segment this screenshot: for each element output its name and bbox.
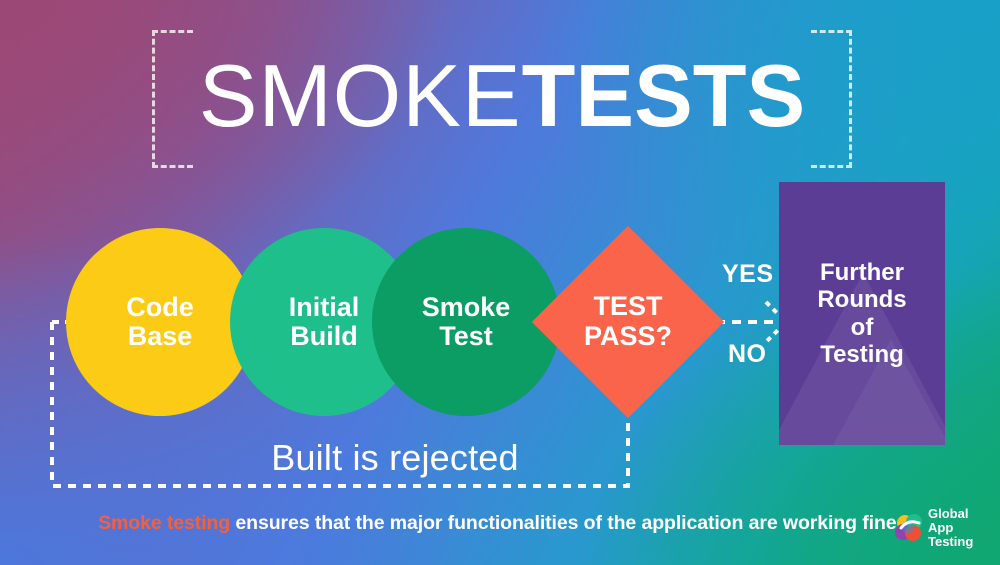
brand-logo-line1: Global [928, 506, 968, 521]
flow-node-code-base-label: Code Base [126, 293, 194, 351]
flow-node-initial-build-label: Initial Build [289, 293, 360, 351]
flow-node-test-pass[interactable]: TEST PASS? [560, 254, 696, 390]
flow-node-further-rounds-label: Further Rounds of Testing [817, 259, 906, 368]
feedback-loop-label: Built is rejected [200, 437, 590, 479]
infographic-canvas: SMOKETESTS YES [0, 0, 1000, 565]
brand-logo[interactable]: GlobalApp Testing [893, 508, 1000, 548]
decision-label-no: NO [728, 340, 767, 369]
global-app-testing-logo-icon [893, 511, 927, 545]
brand-logo-text: GlobalApp Testing [928, 507, 1000, 549]
flow-node-code-base[interactable]: Code Base [66, 228, 254, 416]
flow-node-further-rounds[interactable]: Further Rounds of Testing [779, 182, 945, 445]
brand-logo-line2: App Testing [928, 520, 973, 549]
flow-node-test-pass-label: TEST PASS? [584, 292, 672, 351]
caption-text: Smoke testing ensures that the major fun… [0, 512, 1000, 535]
caption-highlight: Smoke testing [98, 512, 230, 534]
flow-node-smoke-test-label: Smoke Test [422, 293, 511, 351]
caption-rest: ensures that the major functionalities o… [230, 512, 902, 534]
decision-label-yes: YES [722, 260, 774, 289]
